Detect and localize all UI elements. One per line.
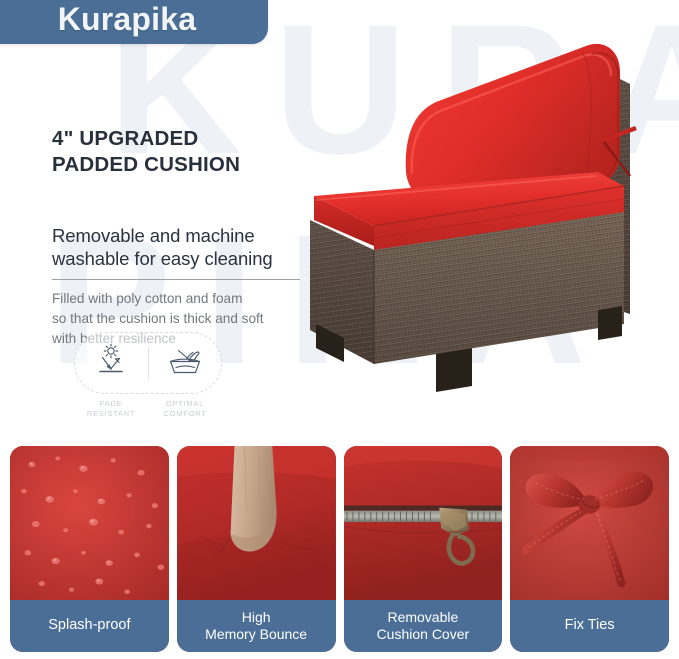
subheadline: Removable and machine washable for easy … [52, 224, 314, 270]
photo-red-cushion-metal-zipper [344, 446, 503, 600]
badge-label-fade-resistant: FADE RESISTANT [74, 399, 148, 420]
copy-block: 4" UPGRADED PADDED CUSHION Removable and… [52, 126, 314, 349]
sun-fade-resistant-icon [91, 343, 131, 384]
caption-line-2: Memory Bounce [205, 626, 307, 642]
badge-label-line-1: FADE [74, 399, 148, 409]
badge-label-line-2: RESISTANT [74, 409, 148, 419]
body-line-1: Filled with poly cotton and foam [52, 289, 314, 309]
hand-press-cushion-icon [164, 344, 206, 383]
caption-line-1: High [242, 609, 271, 625]
badge-label-line-1: OPTIMAL [148, 399, 222, 409]
headline: 4" UPGRADED PADDED CUSHION [52, 126, 314, 178]
subheadline-line-2: washable for easy cleaning [52, 247, 314, 270]
badge-cell-fade-resistant [75, 333, 148, 393]
panel-caption-removable-cushion-cover: Removable Cushion Cover [344, 600, 503, 652]
caption-line-2: Cushion Cover [377, 626, 470, 642]
panel-caption-fix-ties: Fix Ties [510, 600, 669, 652]
badge-cell-optimal-comfort [149, 333, 222, 393]
badge-label-optimal-comfort: OPTIMAL COMFORT [148, 399, 222, 420]
body-line-2: so that the cushion is thick and soft [52, 309, 314, 329]
feature-badge-labels: FADE RESISTANT OPTIMAL COMFORT [74, 399, 222, 420]
photo-red-fabric-water-droplets [10, 446, 169, 600]
panel-caption-high-memory-bounce: High Memory Bounce [177, 600, 336, 652]
feature-panel-removable-cushion-cover[interactable]: Removable Cushion Cover [344, 446, 503, 652]
feature-panel-row: Splash-proof [0, 446, 679, 652]
headline-line-2: PADDED CUSHION [52, 152, 314, 178]
photo-red-fabric-bow-tie [510, 446, 669, 600]
feature-panel-fix-ties[interactable]: Fix Ties [510, 446, 669, 652]
caption-line-1: Removable [387, 609, 458, 625]
badge-label-line-2: COMFORT [148, 409, 222, 419]
feature-panel-high-memory-bounce[interactable]: High Memory Bounce [177, 446, 336, 652]
photo-foot-pressing-red-cushion [177, 446, 336, 600]
caption-text: Fix Ties [565, 617, 615, 634]
divider-rule [52, 279, 300, 280]
brand-tab: Kurapika [0, 0, 268, 44]
subheadline-line-1: Removable and machine [52, 224, 314, 247]
caption-text: Splash-proof [48, 617, 130, 634]
brand-name: Kurapika [58, 1, 197, 38]
panel-caption-splash-proof: Splash-proof [10, 600, 169, 652]
feature-panel-splash-proof[interactable]: Splash-proof [10, 446, 169, 652]
headline-line-1: 4" UPGRADED [52, 126, 314, 152]
product-image-wicker-sofa [286, 24, 678, 436]
product-feature-graphic: K U R A P I K A Kurapika 4" UPGRADED PAD… [0, 0, 679, 659]
feature-badge [74, 332, 222, 394]
